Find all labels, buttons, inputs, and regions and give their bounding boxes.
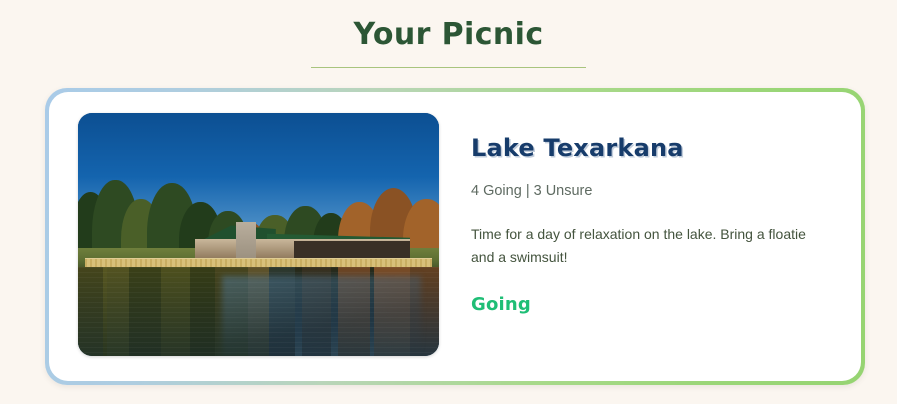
event-card[interactable]: Lake Texarkana 4 Going | 3 Unsure Time f… (45, 88, 865, 385)
page-title: Your Picnic (353, 18, 543, 53)
pavilion-building (186, 222, 410, 261)
rsvp-status-button[interactable]: Going (471, 294, 531, 315)
event-card-body: Lake Texarkana 4 Going | 3 Unsure Time f… (49, 92, 861, 381)
page-header: Your Picnic (0, 0, 897, 78)
attendance-summary: 4 Going | 3 Unsure (471, 181, 821, 201)
event-photo (78, 113, 439, 356)
title-divider (311, 67, 586, 68)
app-root: Your Picnic (0, 0, 897, 404)
event-details: Lake Texarkana 4 Going | 3 Unsure Time f… (439, 92, 861, 315)
lake-water (78, 267, 439, 356)
lake-photo-image (78, 113, 439, 356)
event-description: Time for a day of relaxation on the lake… (471, 223, 821, 268)
event-title: Lake Texarkana (471, 134, 821, 163)
